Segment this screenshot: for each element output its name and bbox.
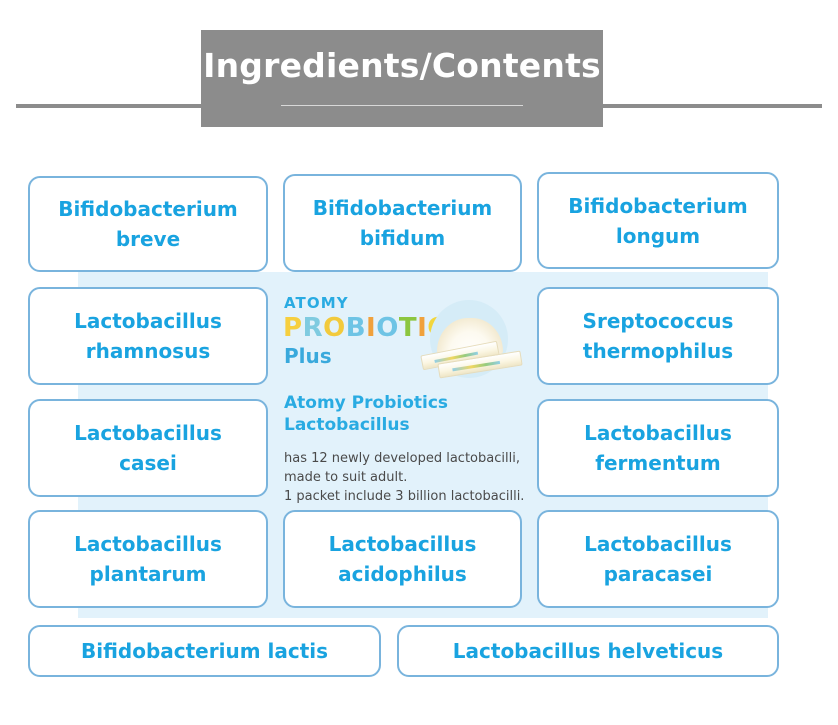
ingredient-name-line2: fermentum [584,448,732,478]
brand-description-line1: has 12 newly developed lactobacilli, [284,449,534,468]
brand-description-line2: made to suit adult. [284,468,534,487]
ingredient-name-line2: breve [58,224,238,254]
wordmark-letter-5: O [376,313,399,343]
ingredient-name-line2: casei [74,448,222,478]
probiotics-sachet-and-powder-photo [416,300,531,382]
ingredient-name-line2: bifidum [313,223,493,253]
brand-suffix-plus: Plus [284,344,332,368]
sachet-print-stripe [452,361,499,371]
ingredient-name-line1: Bifidobacterium lactis [81,636,328,666]
brand-product-panel: ATOMY PROBIOTICS Plus Atomy Probiotics L… [283,287,533,497]
ingredient-name-line2: longum [568,221,748,251]
ingredient-name-line1: Lactobacillus [584,529,732,559]
brand-headline-line1: Atomy Probiotics [284,392,532,414]
ingredient-name-line1: Lactobacillus [74,529,222,559]
ingredient-card-lactobacillus-rhamnosus[interactable]: Lactobacillus rhamnosus [28,287,268,385]
ingredient-name-line1: Lactobacillus [74,306,222,336]
brand-headline-line2: Lactobacillus [284,414,532,436]
ingredient-card-sreptococcus-thermophilus[interactable]: Sreptococcus thermophilus [537,287,779,385]
ingredient-name-line2: acidophilus [329,559,477,589]
brand-description-line3: 1 packet include 3 billion lactobacilli. [284,487,534,506]
ingredient-name-line2: paracasei [584,559,732,589]
ingredient-card-bifidobacterium-breve[interactable]: Bifidobacterium breve [28,176,268,272]
ingredient-card-lactobacillus-casei[interactable]: Lactobacillus casei [28,399,268,497]
ingredient-card-lactobacillus-fermentum[interactable]: Lactobacillus fermentum [537,399,779,497]
ingredient-name-line1: Lactobacillus [74,418,222,448]
ingredient-card-bifidobacterium-lactis[interactable]: Bifidobacterium lactis [28,625,381,677]
title-underline [281,105,523,106]
ingredient-name-line2: plantarum [74,559,222,589]
ingredient-name-line2: thermophilus [583,336,734,366]
ingredient-card-bifidobacterium-bifidum[interactable]: Bifidobacterium bifidum [283,174,522,272]
wordmark-letter-6: T [399,313,417,343]
wordmark-letter-3: B [346,313,366,343]
ingredient-name-line1: Bifidobacterium [568,191,748,221]
ingredient-name-line1: Bifidobacterium [58,194,238,224]
ingredient-name-line1: Lactobacillus [329,529,477,559]
title-plaque: Ingredients/Contents [201,30,603,127]
ingredient-name-line2: rhamnosus [74,336,222,366]
wordmark-letter-2: O [323,313,346,343]
ingredient-card-lactobacillus-plantarum[interactable]: Lactobacillus plantarum [28,510,268,608]
brand-headline: Atomy Probiotics Lactobacillus [284,392,532,436]
ingredient-name-line1: Sreptococcus [583,306,734,336]
ingredient-name-line1: Lactobacillus [584,418,732,448]
wordmark-letter-0: P [283,313,303,343]
wordmark-letter-4: I [366,313,376,343]
ingredient-card-bifidobacterium-longum[interactable]: Bifidobacterium longum [537,172,779,269]
brand-name-atomy: ATOMY [284,294,349,312]
ingredient-name-line1: Bifidobacterium [313,193,493,223]
page-header: Ingredients/Contents [0,0,838,150]
brand-description: has 12 newly developed lactobacilli, mad… [284,449,534,506]
ingredient-card-lactobacillus-acidophilus[interactable]: Lactobacillus acidophilus [283,510,522,608]
wordmark-letter-1: R [303,313,324,343]
ingredient-name-line1: Lactobacillus helveticus [453,636,723,666]
ingredient-card-lactobacillus-helveticus[interactable]: Lactobacillus helveticus [397,625,779,677]
ingredient-card-lactobacillus-paracasei[interactable]: Lactobacillus paracasei [537,510,779,608]
page-title: Ingredients/Contents [201,44,603,88]
